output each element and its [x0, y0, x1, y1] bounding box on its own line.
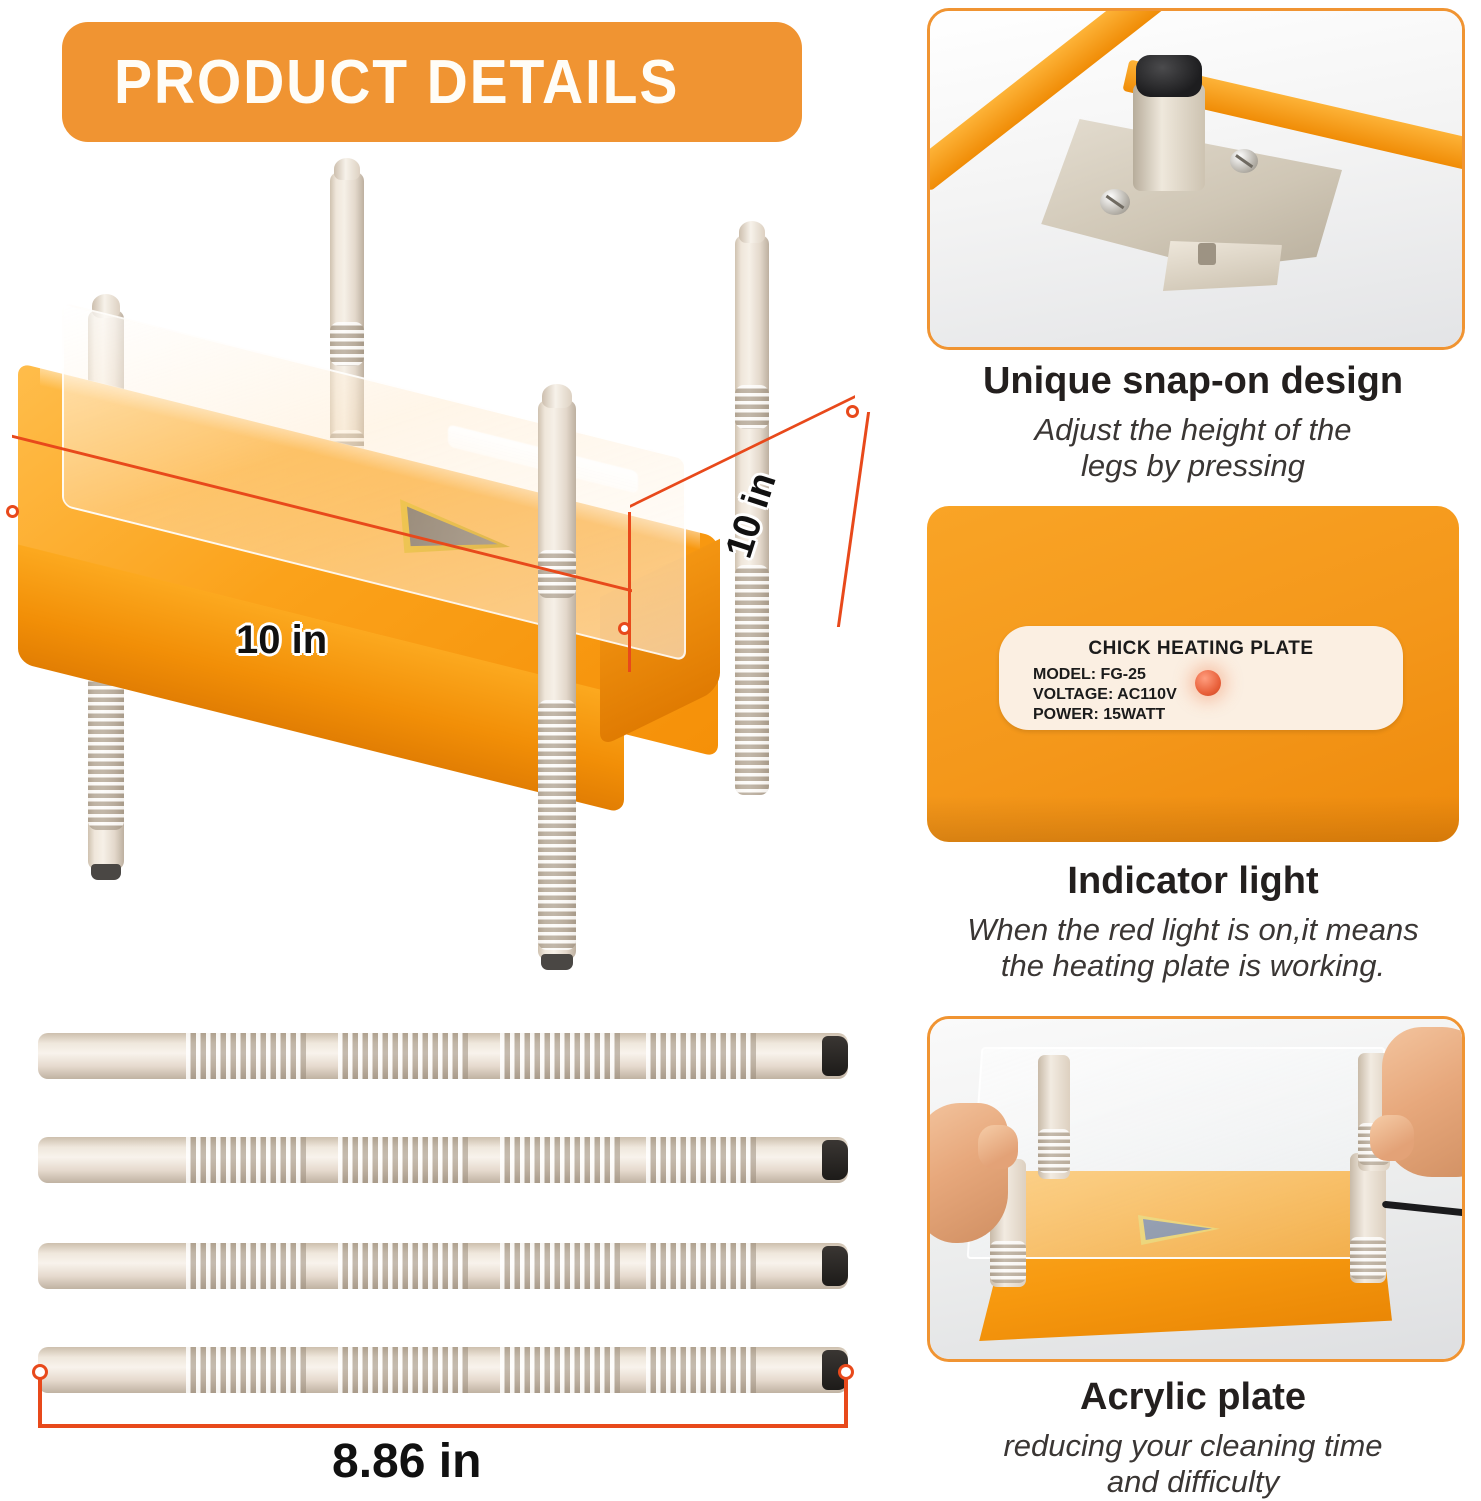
right-column: Unique snap-on design Adjust the height … — [905, 0, 1481, 1500]
acrylic-plate-photo — [930, 1019, 1462, 1359]
screw-icon — [1100, 189, 1130, 215]
panel-indicator-subtitle-line1: When the red light is on,it means — [913, 912, 1473, 949]
panel-snap-on-subtitle-line2: legs by pressing — [913, 448, 1473, 485]
stand-leg — [1038, 1055, 1070, 1179]
hand-left — [927, 1103, 1008, 1243]
screw-icon — [1230, 149, 1258, 173]
detached-leg — [38, 1243, 848, 1289]
detached-leg — [38, 1137, 848, 1183]
panel-acrylic-plate — [927, 1016, 1465, 1362]
dimension-endpoint-start — [32, 1364, 48, 1380]
panel-snap-on-title: Unique snap-on design — [913, 362, 1473, 402]
latch-slot — [1198, 243, 1216, 265]
indicator-light-icon — [1195, 670, 1221, 696]
page-title: PRODUCT DETAILS — [114, 47, 679, 118]
dimension-label-depth: 10 in — [718, 468, 786, 564]
length-dimension-group: 8.86 in — [0, 1372, 905, 1500]
dimension-endpoint-end — [838, 1364, 854, 1380]
dimension-endpoint-left — [6, 505, 19, 518]
stand-leg — [1350, 1153, 1386, 1283]
plate-bottom-shadow — [927, 796, 1459, 842]
acrylic-sheet — [967, 1047, 1386, 1259]
panel-indicator-subtitle-line2: the heating plate is working. — [913, 948, 1473, 985]
press-button-icon[interactable] — [1136, 55, 1202, 97]
product-details-badge: PRODUCT DETAILS — [62, 22, 802, 142]
panel-acrylic-subtitle-line2: and difficulty — [913, 1464, 1473, 1501]
detached-leg — [38, 1033, 848, 1079]
spec-label-title: CHICK HEATING PLATE — [999, 638, 1403, 660]
spec-label-plate: CHICK HEATING PLATE MODEL: FG-25 VOLTAGE… — [999, 626, 1403, 730]
spec-line-power: POWER: 15WATT — [1033, 706, 1165, 724]
dimension-endpoint-corner — [618, 622, 631, 635]
power-cord — [1382, 1201, 1465, 1217]
hero-product-image: 10 in 10 in — [0, 150, 905, 1000]
panel-indicator-light: CHICK HEATING PLATE MODEL: FG-25 VOLTAGE… — [927, 506, 1459, 842]
panel-acrylic-subtitle-line1: reducing your cleaning time — [913, 1428, 1473, 1465]
spec-line-voltage: VOLTAGE: AC110V — [1033, 686, 1177, 704]
dimension-bracket-baseline — [38, 1424, 848, 1428]
panel-snap-on-subtitle-line1: Adjust the height of the — [913, 412, 1473, 449]
snap-latch-tab[interactable] — [1158, 241, 1282, 291]
panel-snap-on-design — [927, 8, 1465, 350]
dimension-bracket-left-tick — [38, 1372, 42, 1426]
left-column: PRODUCT DETAILS — [0, 0, 905, 1500]
panel-acrylic-title: Acrylic plate — [913, 1378, 1473, 1418]
snap-post — [1133, 83, 1205, 191]
finger-right — [1370, 1115, 1414, 1161]
dimension-bracket-right-tick — [844, 1372, 848, 1426]
dimension-label-length: 8.86 in — [332, 1434, 481, 1489]
detached-legs-group — [0, 1025, 905, 1385]
product-leg-front-right — [538, 400, 576, 960]
finger-left — [978, 1125, 1018, 1169]
dimension-label-width: 10 in — [236, 618, 327, 663]
dimension-endpoint-right — [846, 405, 859, 418]
snap-on-mechanism-photo — [930, 11, 1462, 347]
spec-line-model: MODEL: FG-25 — [1033, 666, 1146, 684]
dimension-line-depth-drop — [837, 412, 870, 627]
panel-indicator-title: Indicator light — [913, 862, 1473, 902]
dimension-line-width-tick — [628, 512, 631, 672]
